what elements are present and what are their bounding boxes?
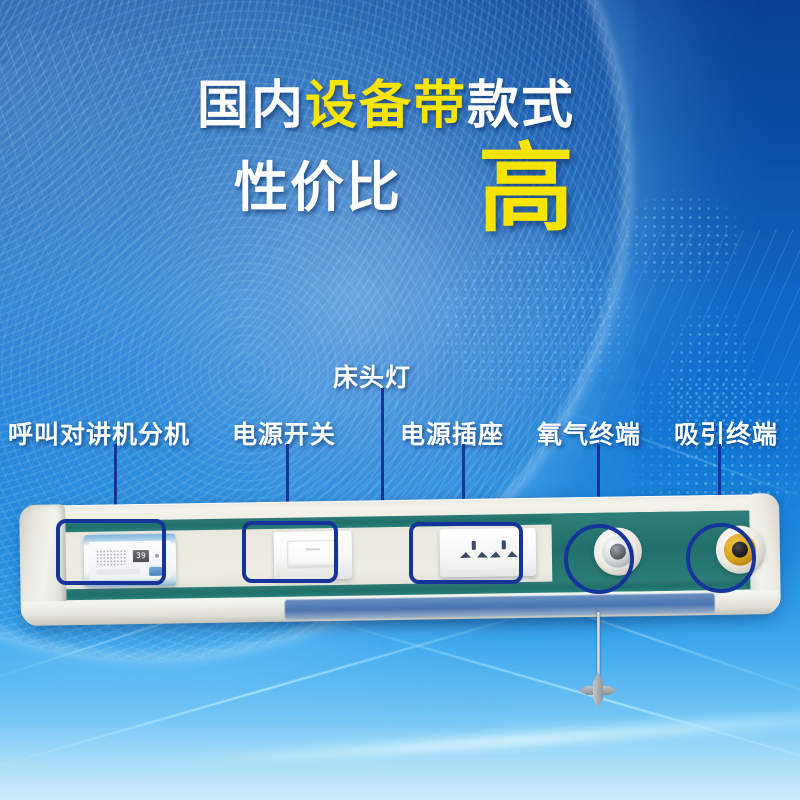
headline-line1-part-a: 国内 (197, 76, 305, 136)
headline-line2-text: 性价比 (234, 156, 402, 219)
highlight-box-power-socket (409, 522, 523, 584)
callout-label-power-socket: 电源插座 (400, 415, 504, 451)
headline-line1-part-b: 款式 (467, 76, 575, 136)
promo-banner: 国内设备带款式 性价比高 呼叫对讲机分机 电源开关 床头灯 电源插座 氧气终端 … (0, 0, 800, 800)
highlight-box-power-switch (242, 521, 338, 583)
headline-line2-highlight: 高 (478, 159, 576, 219)
headline-line1-highlight: 设备带 (305, 76, 467, 136)
headline-line-1: 国内设备带款式 (0, 78, 800, 134)
callout-label-suction-terminal: 吸引终端 (674, 415, 778, 451)
callout-label-bed-lamp: 床头灯 (333, 358, 411, 394)
headline-block: 国内设备带款式 性价比高 (0, 78, 800, 219)
highlight-box-intercom (56, 519, 166, 585)
hanging-cord (597, 612, 600, 680)
callout-label-intercom: 呼叫对讲机分机 (8, 415, 190, 451)
cord-connector-vertical (593, 672, 603, 708)
highlight-circle-suction-terminal (686, 523, 756, 593)
callout-label-oxygen-terminal: 氧气终端 (537, 415, 641, 451)
highlight-circle-oxygen-terminal (564, 524, 634, 594)
callout-label-power-switch: 电源开关 (232, 415, 336, 451)
headline-line-2: 性价比高 (0, 158, 800, 219)
cord-cross-connector (578, 672, 618, 708)
